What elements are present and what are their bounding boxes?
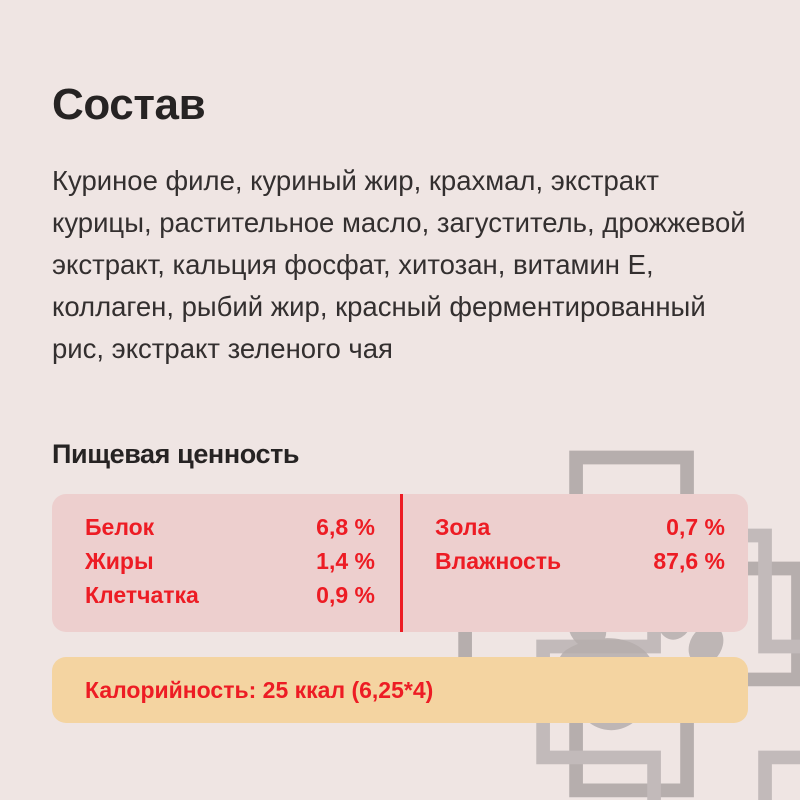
nutrient-value: 87,6 % [653,548,725,575]
nutrient-label: Влажность [435,548,561,575]
nutrition-column-divider [400,494,403,632]
nutrient-value: 0,9 % [316,582,375,609]
nutrient-label: Жиры [85,548,154,575]
nutrition-section-title: Пищевая ценность [52,437,299,471]
nutrient-value: 1,4 % [316,548,375,575]
table-row: Зола 0,7 % [435,514,725,548]
nutrition-column-left: Белок 6,8 % Жиры 1,4 % Клетчатка 0,9 % [85,514,375,616]
nutrient-value: 0,7 % [666,514,725,541]
calories-banner: Калорийность: 25 ккал (6,25*4) [52,657,748,723]
page-title: Состав [52,79,205,131]
table-row: Влажность 87,6 % [435,548,725,582]
ingredients-list: Куриное филе, куриный жир, крахмал, экст… [52,160,762,370]
nutrient-label: Зола [435,514,490,541]
table-row: Белок 6,8 % [85,514,375,548]
nutrient-label: Белок [85,514,154,541]
nutrient-value: 6,8 % [316,514,375,541]
table-row: Жиры 1,4 % [85,548,375,582]
nutrient-label: Клетчатка [85,582,199,609]
calories-text: Калорийность: 25 ккал (6,25*4) [85,657,433,723]
product-nutrition-card: Состав Куриное филе, куриный жир, крахма… [0,0,800,800]
nutrition-table: Белок 6,8 % Жиры 1,4 % Клетчатка 0,9 % З… [52,494,748,632]
table-row: Клетчатка 0,9 % [85,582,375,616]
nutrition-column-right: Зола 0,7 % Влажность 87,6 % [435,514,725,582]
